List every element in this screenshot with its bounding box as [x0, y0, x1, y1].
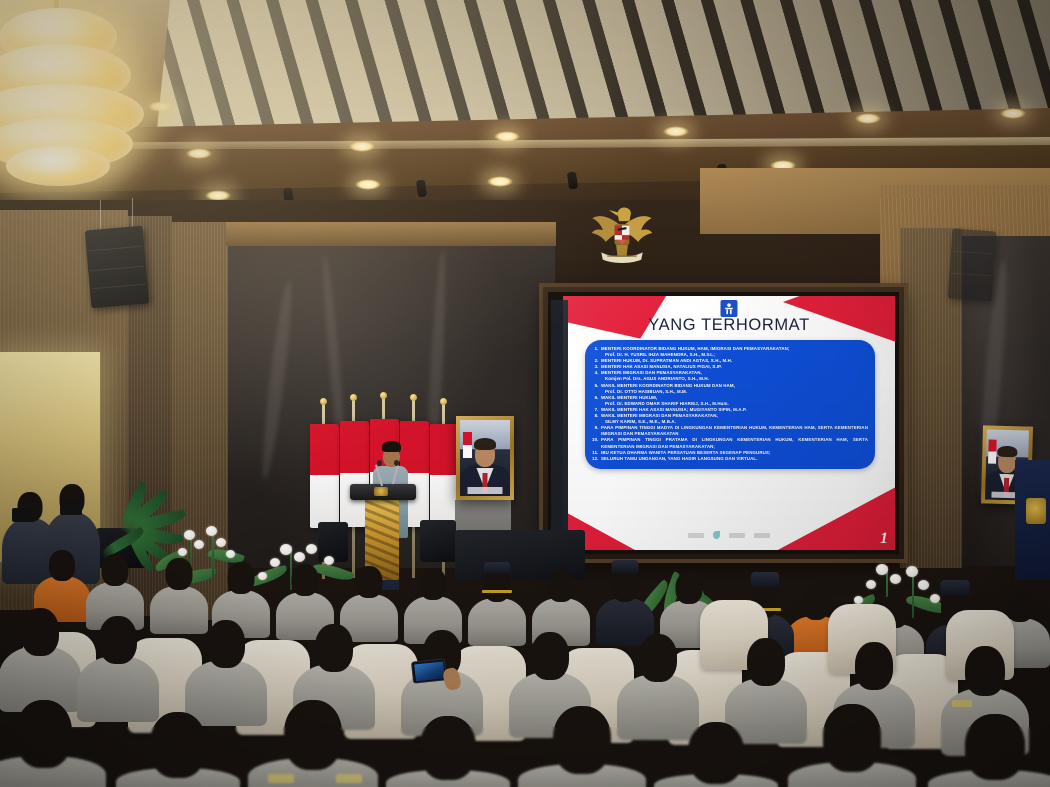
- portrait-flag-detail: [988, 440, 997, 464]
- downlight: [148, 101, 174, 112]
- footer-logo-mark: [754, 533, 770, 538]
- downlight: [186, 148, 212, 159]
- flag-finial: [350, 394, 357, 401]
- audience-member-front: [118, 712, 238, 787]
- podium-emblem: [374, 487, 388, 496]
- garuda-svg: [584, 196, 660, 270]
- line-array-speaker: [948, 229, 997, 302]
- audience-member-front: [656, 722, 776, 787]
- honoree-text: PARA PIMPINAN TINGGI MADYA DI LINGKUNGAN…: [601, 425, 868, 437]
- phone-screen: [414, 661, 445, 681]
- honoree-item: 12.SELURUH TAMU UNDANGAN, YANG HADIR LAN…: [592, 456, 868, 462]
- honoree-text: PARA PIMPINAN TINGGI PRATAMA DI LINGKUNG…: [601, 437, 868, 449]
- downlight: [349, 141, 375, 152]
- downlight: [855, 113, 881, 124]
- honoree-number: 12.: [592, 456, 601, 462]
- audience-member: [0, 600, 80, 710]
- honoree-item: 5.WAKIL MENTERI KOORDINATOR BIDANG HUKUM…: [592, 383, 868, 389]
- footer-logo-mark: [688, 533, 704, 538]
- flag-finial: [320, 398, 327, 405]
- garuda-pancasila-emblem: [584, 196, 660, 270]
- portrait-nameplate: [468, 487, 503, 494]
- downlight: [494, 131, 520, 142]
- slide-page-number: 1: [880, 530, 888, 548]
- logo-svg: [722, 301, 737, 316]
- footer-logo-mark: [729, 533, 745, 538]
- wood-band: [226, 222, 556, 246]
- honoree-number: 8.: [592, 413, 601, 419]
- speaker-hair: [382, 441, 401, 452]
- audience-member-front: [0, 700, 104, 787]
- presidential-portrait-frame: [456, 416, 514, 500]
- honoree-number: 4.: [592, 370, 601, 376]
- portrait-image: [460, 420, 510, 496]
- ministry-logo-icon: [721, 300, 738, 317]
- honoree-item: 9.PARA PIMPINAN TINGGI MADYA DI LINGKUNG…: [592, 425, 868, 437]
- microphone-head: [377, 460, 382, 466]
- audience-member-front: [790, 704, 914, 787]
- flag-finial: [380, 392, 387, 399]
- slide-title: YANG TERHORMAT: [563, 316, 895, 335]
- downlight: [1000, 108, 1026, 119]
- honoree-text: WAKIL MENTERI KOORDINATOR BIDANG HUKUM D…: [601, 383, 868, 389]
- audience-member-front: [388, 716, 508, 787]
- portrait-hair: [474, 438, 496, 450]
- honoree-item: 6.WAKIL MENTERI HUKUM,: [592, 395, 868, 401]
- flag-finial: [410, 394, 417, 401]
- footer-logo-mark-teal: [713, 531, 720, 539]
- portrait-flag-detail: [463, 432, 472, 458]
- downlight: [487, 176, 513, 187]
- audience-member-front: [930, 714, 1050, 787]
- banner-crest: [1026, 498, 1046, 524]
- downlight: [355, 179, 381, 190]
- audience-member-front: [520, 706, 644, 787]
- audience-member-officer-front: [250, 700, 376, 787]
- stage-monitor-speaker: [420, 520, 456, 562]
- presentation-screen[interactable]: YANG TERHORMAT 1.MENTERI KOORDINATOR BID…: [563, 296, 895, 550]
- screen-left-dark-bezel: [551, 300, 568, 546]
- honoree-list: 1.MENTERI KOORDINATOR BIDANG HUKUM, HAM,…: [592, 346, 868, 462]
- portrait-hair: [997, 446, 1017, 458]
- honoree-number: 10.: [592, 437, 601, 449]
- honoree-number: 5.: [592, 383, 601, 389]
- slide-honoree-list: 1.MENTERI KOORDINATOR BIDANG HUKUM, HAM,…: [585, 340, 875, 469]
- honoree-number: 1.: [592, 346, 601, 352]
- smartphone-recording[interactable]: [411, 658, 447, 683]
- honoree-number: 6.: [592, 395, 601, 401]
- microphone-head: [394, 460, 399, 466]
- conference-hall-photo: YANG TERHORMAT 1.MENTERI KOORDINATOR BID…: [0, 0, 1050, 787]
- honoree-text: SELURUH TAMU UNDANGAN, YANG HADIR LANGSU…: [601, 456, 868, 462]
- slide-footer-logos: [563, 528, 895, 542]
- honoree-number: 9.: [592, 425, 601, 437]
- indonesian-flag: [310, 424, 339, 528]
- honoree-item: 10.PARA PIMPINAN TINGGI PRATAMA DI LINGK…: [592, 437, 868, 449]
- honoree-text: WAKIL MENTERI HUKUM,: [601, 395, 868, 401]
- flag-finial: [440, 398, 447, 405]
- downlight: [663, 126, 689, 137]
- line-array-speaker: [85, 226, 150, 309]
